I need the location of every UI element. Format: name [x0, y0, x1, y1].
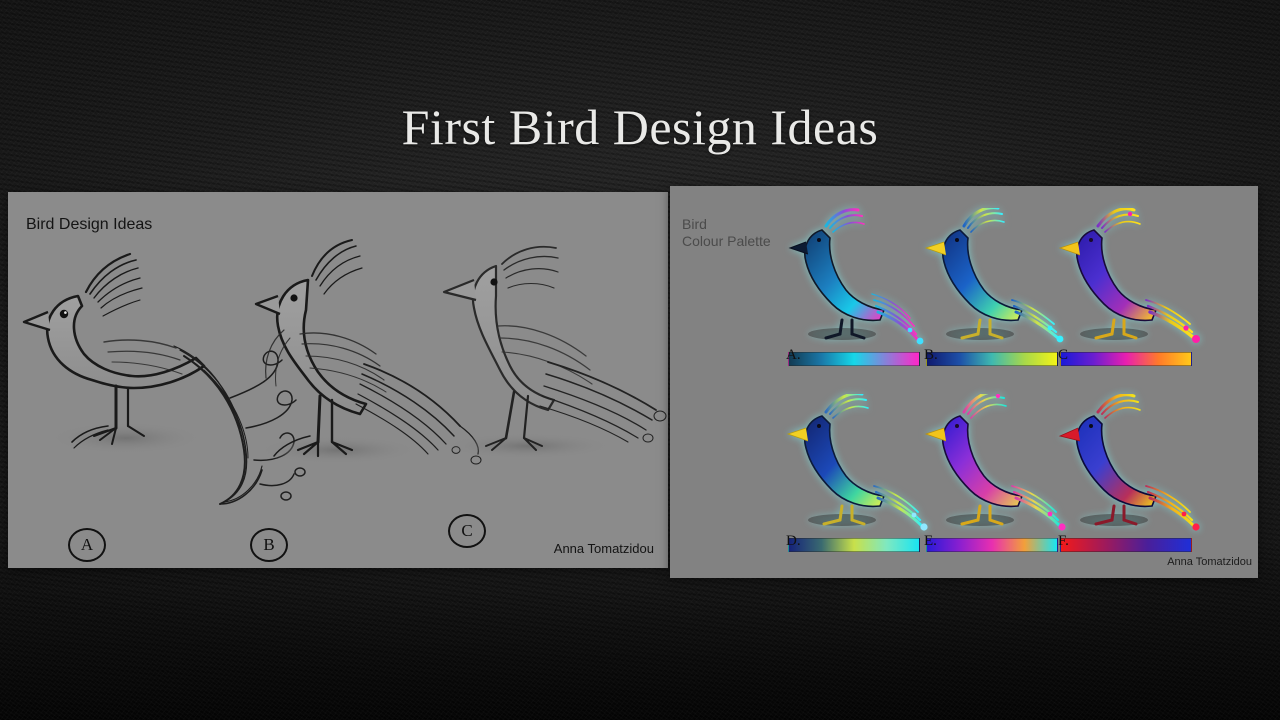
page-title: First Bird Design Ideas: [0, 98, 1280, 156]
sketch-label-a: A: [68, 528, 106, 562]
palette-bird-c: C: [1052, 208, 1202, 366]
bird-label-f: F.: [1058, 533, 1069, 550]
sketch-label-b: B: [250, 528, 288, 562]
sketch-panel-heading: Bird Design Ideas: [26, 216, 152, 234]
sketch-panel: Bird Design Ideas: [8, 192, 668, 568]
palette-bird-d: D.: [780, 394, 930, 552]
bird-illustration-b: [918, 208, 1068, 348]
palette-swatch-c: [1060, 352, 1192, 366]
sketch-label-c: C: [448, 514, 486, 548]
palette-swatch-f: [1060, 538, 1192, 552]
palette-swatch-e: [926, 538, 1058, 552]
palette-panel: BirdColour Palette: [670, 186, 1258, 578]
bird-illustration-a: [780, 208, 930, 348]
palette-swatch-b: [926, 352, 1058, 366]
sketch-bird-c: [442, 247, 666, 459]
palette-bird-a: A.: [780, 208, 930, 366]
palette-bird-e: E.: [918, 394, 1068, 552]
palette-heading-line2: Colour Palette: [682, 233, 771, 249]
sketch-artwork: [8, 238, 668, 568]
bird-label-b: B.: [924, 347, 938, 364]
bird-illustration-c: [1052, 208, 1202, 348]
bird-label-e: E.: [924, 533, 937, 550]
palette-swatch-d: [788, 538, 920, 552]
bird-label-d: D.: [786, 533, 801, 550]
palette-swatch-a: [788, 352, 920, 366]
bird-illustration-f: [1052, 394, 1202, 534]
bird-label-c: C: [1058, 347, 1068, 364]
palette-panel-heading: BirdColour Palette: [682, 216, 771, 250]
bird-label-a: A.: [786, 347, 801, 364]
sketch-bird-a: [24, 254, 305, 504]
palette-bird-b: B.: [918, 208, 1068, 366]
palette-heading-line1: Bird: [682, 216, 707, 232]
palette-bird-f: F.: [1052, 394, 1202, 552]
sketch-panel-credit: Anna Tomatzidou: [554, 541, 654, 556]
sketch-bird-b: [256, 240, 481, 464]
palette-panel-credit: Anna Tomatzidou: [1167, 556, 1252, 568]
bird-illustration-e: [918, 394, 1068, 534]
bird-illustration-d: [780, 394, 930, 534]
